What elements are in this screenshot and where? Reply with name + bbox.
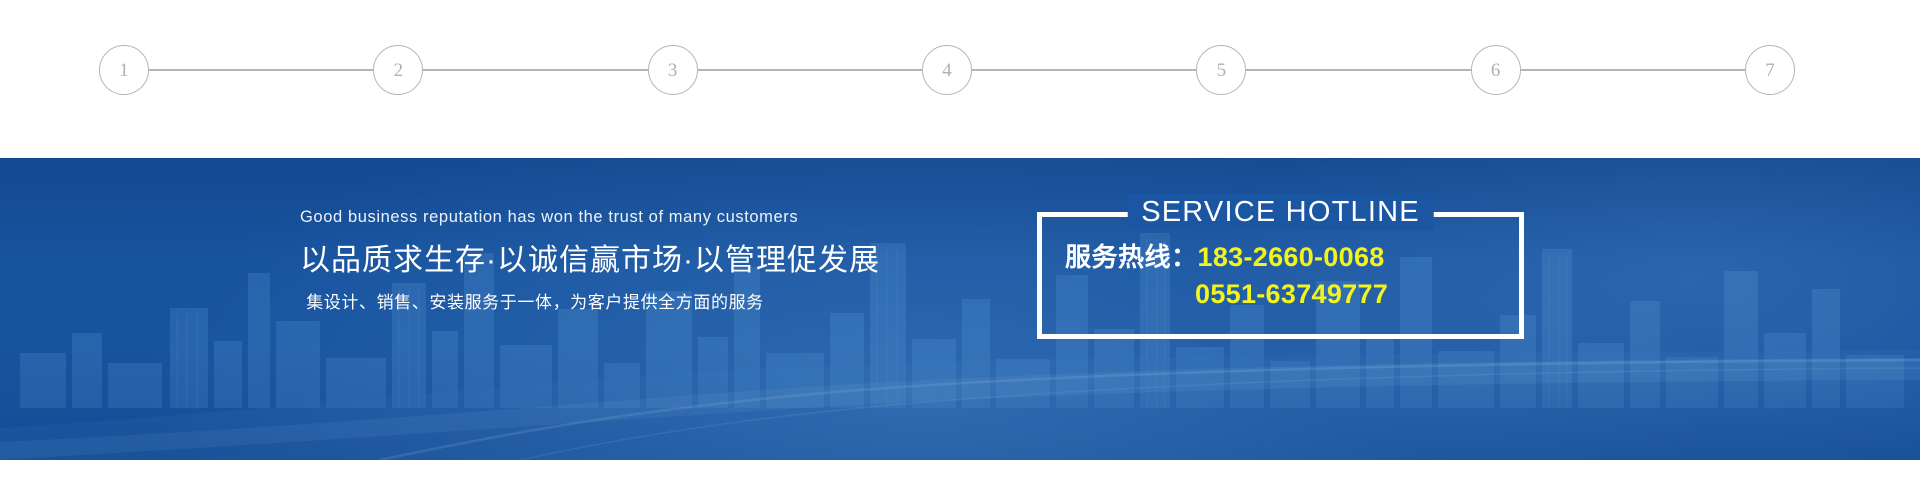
slogan-block: Good business reputation has won the tru… (300, 208, 770, 314)
city-skyline-background-image (0, 213, 1920, 408)
step-node-2[interactable]: 2 (373, 45, 423, 95)
hotline-phone-secondary[interactable]: 0551-63749777 (1195, 277, 1388, 312)
slogan-chinese-subtext: 集设计、销售、安装服务于一体，为客户提供全方面的服务 (300, 292, 770, 314)
step-number-label: 2 (394, 61, 404, 80)
hotline-phone-primary[interactable]: 183-2660-0068 (1198, 240, 1385, 275)
step-number-label: 5 (1217, 61, 1227, 80)
step-node-1[interactable]: 1 (99, 45, 149, 95)
step-node-3[interactable]: 3 (648, 45, 698, 95)
step-node-6[interactable]: 6 (1471, 45, 1521, 95)
step-node-4[interactable]: 4 (922, 45, 972, 95)
hotline-number-list: 服务热线： 183-2660-0068 0551-63749777 (1037, 240, 1524, 311)
hotline-row-primary: 服务热线： 183-2660-0068 (1065, 240, 1506, 275)
slogan-english-tagline: Good business reputation has won the tru… (300, 208, 770, 228)
step-number-label: 6 (1491, 61, 1501, 80)
highway-background-image (0, 350, 1920, 460)
step-number-label: 1 (119, 61, 129, 80)
step-node-5[interactable]: 5 (1196, 45, 1246, 95)
stepper-section: 1 2 3 4 5 6 7 (0, 0, 1920, 158)
hotline-title: SERVICE HOTLINE (1127, 194, 1434, 230)
step-node-7[interactable]: 7 (1745, 45, 1795, 95)
page-root: 1 2 3 4 5 6 7 (0, 0, 1920, 500)
service-hotline-box: SERVICE HOTLINE 服务热线： 183-2660-0068 0551… (1037, 212, 1524, 339)
banner-gradient-overlay (0, 158, 1920, 460)
hotline-row-secondary: 0551-63749777 (1065, 277, 1506, 312)
slogan-chinese-headline: 以品质求生存·以诚信赢市场·以管理促发展 (300, 242, 770, 280)
step-connector-2-3 (422, 69, 648, 71)
step-connector-1-2 (148, 69, 374, 71)
step-connector-4-5 (971, 69, 1197, 71)
step-connector-3-4 (697, 69, 923, 71)
step-progress-bar: 1 2 3 4 5 6 7 (99, 45, 1795, 95)
step-connector-5-6 (1245, 69, 1471, 71)
promo-banner: Good business reputation has won the tru… (0, 158, 1920, 460)
step-number-label: 7 (1765, 61, 1775, 80)
step-number-label: 4 (942, 61, 952, 80)
step-number-label: 3 (668, 61, 678, 80)
hotline-label: 服务热线： (1065, 241, 1198, 274)
step-connector-6-7 (1520, 69, 1746, 71)
